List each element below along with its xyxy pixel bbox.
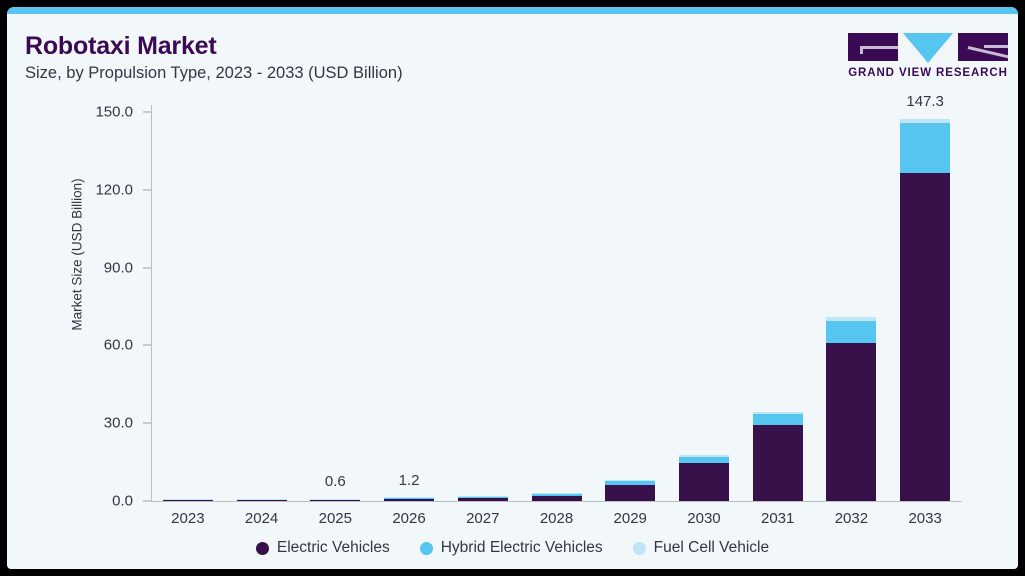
x-axis-tick-label: 2024	[245, 510, 278, 527]
bar-stack[interactable]	[310, 499, 360, 501]
bar-segment[interactable]	[163, 499, 213, 500]
x-axis-tick-label: 2027	[466, 510, 499, 527]
bar-segment[interactable]	[384, 499, 434, 501]
x-axis-tick-label: 2025	[319, 510, 352, 527]
bar-segment[interactable]	[753, 414, 803, 425]
x-axis-tick-label: 2023	[171, 510, 204, 527]
x-axis-tick-label: 2028	[540, 510, 573, 527]
bar-stack[interactable]	[458, 496, 508, 501]
bar-stack[interactable]	[532, 493, 582, 501]
bar-segment[interactable]	[753, 425, 803, 501]
x-axis-tick-label: 2029	[614, 510, 647, 527]
bars-layer: 0.61.2147.3	[7, 7, 1018, 569]
bar-segment[interactable]	[605, 485, 655, 501]
chart-legend: Electric VehiclesHybrid Electric Vehicle…	[7, 539, 1018, 557]
legend-dot-icon	[420, 542, 433, 555]
bar-stack[interactable]	[605, 480, 655, 501]
bar-segment[interactable]	[237, 499, 287, 500]
bar-segment[interactable]	[900, 173, 950, 501]
legend-dot-icon	[633, 542, 646, 555]
x-axis-tick-label: 2026	[392, 510, 425, 527]
bar-segment[interactable]	[310, 500, 360, 501]
legend-item[interactable]: Hybrid Electric Vehicles	[420, 539, 603, 557]
legend-item[interactable]: Fuel Cell Vehicle	[633, 539, 769, 557]
x-axis-tick-label: 2031	[761, 510, 794, 527]
bar-segment[interactable]	[532, 494, 582, 496]
bar-stack[interactable]	[384, 498, 434, 501]
bar-segment[interactable]	[532, 496, 582, 501]
bar-segment[interactable]	[458, 498, 508, 501]
chart-card: Robotaxi Market Size, by Propulsion Type…	[7, 7, 1018, 569]
legend-label: Fuel Cell Vehicle	[654, 539, 769, 557]
bar-stack[interactable]	[237, 500, 287, 501]
bar-segment[interactable]	[753, 412, 803, 415]
bar-segment[interactable]	[826, 343, 876, 501]
bar-segment[interactable]	[605, 481, 655, 484]
bar-stack[interactable]	[826, 317, 876, 501]
bar-value-label: 147.3	[906, 93, 944, 110]
legend-dot-icon	[256, 542, 269, 555]
x-axis-tick-label: 2030	[687, 510, 720, 527]
legend-label: Hybrid Electric Vehicles	[441, 539, 603, 557]
bar-segment[interactable]	[679, 463, 729, 501]
bar-stack[interactable]	[163, 500, 213, 501]
bar-segment[interactable]	[826, 321, 876, 343]
bar-segment[interactable]	[532, 493, 582, 494]
bar-segment[interactable]	[310, 499, 360, 500]
bar-segment[interactable]	[384, 497, 434, 498]
legend-label: Electric Vehicles	[277, 539, 390, 557]
legend-item[interactable]: Electric Vehicles	[256, 539, 390, 557]
bar-stack[interactable]	[900, 119, 950, 501]
bar-segment[interactable]	[605, 480, 655, 481]
bar-segment[interactable]	[679, 455, 729, 457]
bar-segment[interactable]	[458, 497, 508, 498]
bar-segment[interactable]	[826, 317, 876, 321]
chart-plot-area: Market Size (USD Billion) 0.030.060.090.…	[7, 7, 1018, 569]
bar-value-label: 0.6	[325, 473, 346, 490]
bar-segment[interactable]	[458, 496, 508, 497]
bar-segment[interactable]	[679, 457, 729, 463]
screenshot-frame: Robotaxi Market Size, by Propulsion Type…	[0, 0, 1025, 576]
bar-stack[interactable]	[753, 412, 803, 501]
bar-stack[interactable]	[679, 455, 729, 501]
x-axis-tick-label: 2033	[908, 510, 941, 527]
x-axis-tick-label: 2032	[835, 510, 868, 527]
bar-value-label: 1.2	[399, 472, 420, 489]
bar-segment[interactable]	[900, 123, 950, 173]
bar-segment[interactable]	[900, 119, 950, 123]
